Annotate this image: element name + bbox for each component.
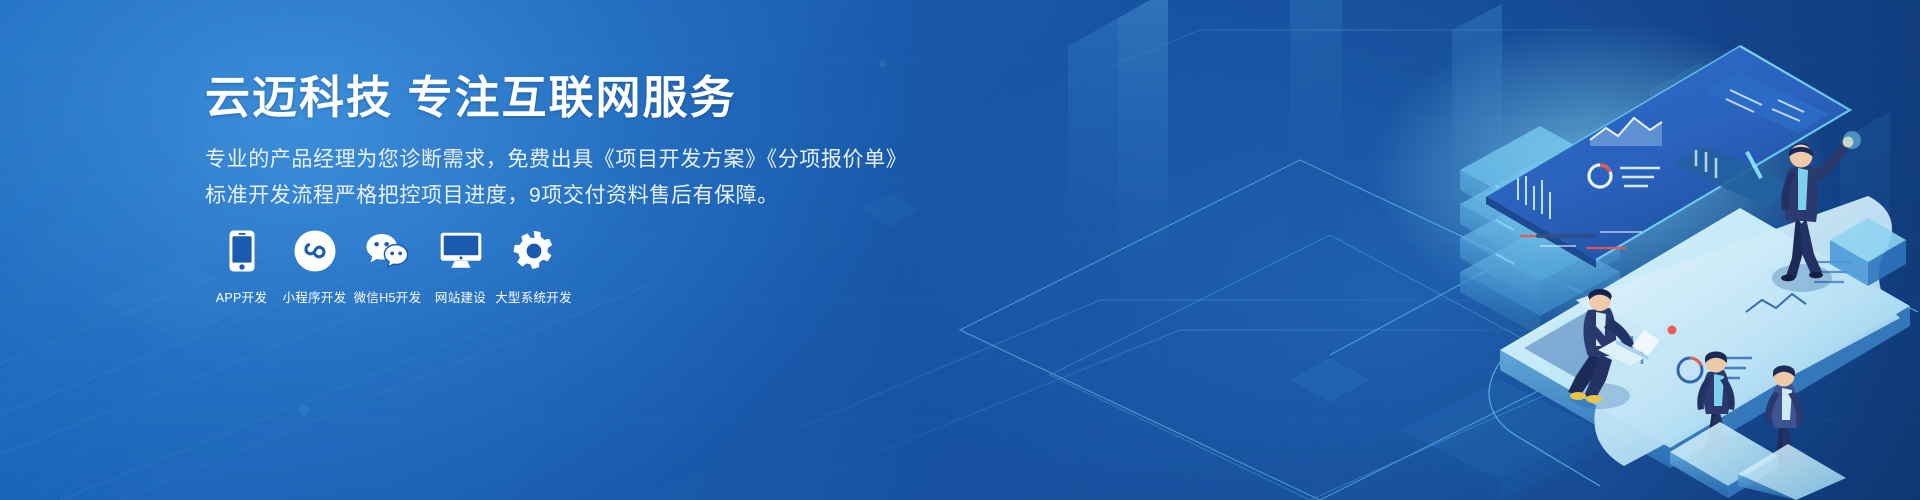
mobile-phone-icon <box>229 228 255 274</box>
hero-illustration <box>900 0 1920 500</box>
service-label-app: APP开发 <box>216 287 268 306</box>
service-item-system[interactable]: 大型系统开发 <box>497 228 570 306</box>
service-item-app[interactable]: APP开发 <box>205 228 278 306</box>
banner-content: 云迈科技 专注互联网服务 专业的产品经理为您诊断需求，免费出具《项目开发方案》《… <box>205 0 965 500</box>
banner-subtitle: 专业的产品经理为您诊断需求，免费出具《项目开发方案》《分项报价单》 标准开发流程… <box>205 142 905 214</box>
gear-icon <box>513 228 555 274</box>
service-icon-row: APP开发 小程序开发 <box>205 228 570 306</box>
service-item-wechat[interactable]: 微信H5开发 <box>351 228 424 306</box>
monitor-icon <box>440 228 482 274</box>
hero-banner: 云迈科技 专注互联网服务 专业的产品经理为您诊断需求，免费出具《项目开发方案》《… <box>0 0 1920 500</box>
service-item-website[interactable]: 网站建设 <box>424 228 497 306</box>
subtitle-line-2: 标准开发流程严格把控项目进度，9项交付资料售后有保障。 <box>205 178 905 214</box>
subtitle-line-1: 专业的产品经理为您诊断需求，免费出具《项目开发方案》《分项报价单》 <box>205 142 905 178</box>
page-title: 云迈科技 专注互联网服务 <box>205 73 737 123</box>
service-label-miniprogram: 小程序开发 <box>282 287 346 306</box>
service-label-website: 网站建设 <box>435 287 486 306</box>
service-label-system: 大型系统开发 <box>495 287 572 306</box>
wechat-icon <box>365 228 411 274</box>
service-label-wechat: 微信H5开发 <box>354 287 422 306</box>
service-item-miniprogram[interactable]: 小程序开发 <box>278 228 351 306</box>
mini-program-icon <box>294 228 336 274</box>
